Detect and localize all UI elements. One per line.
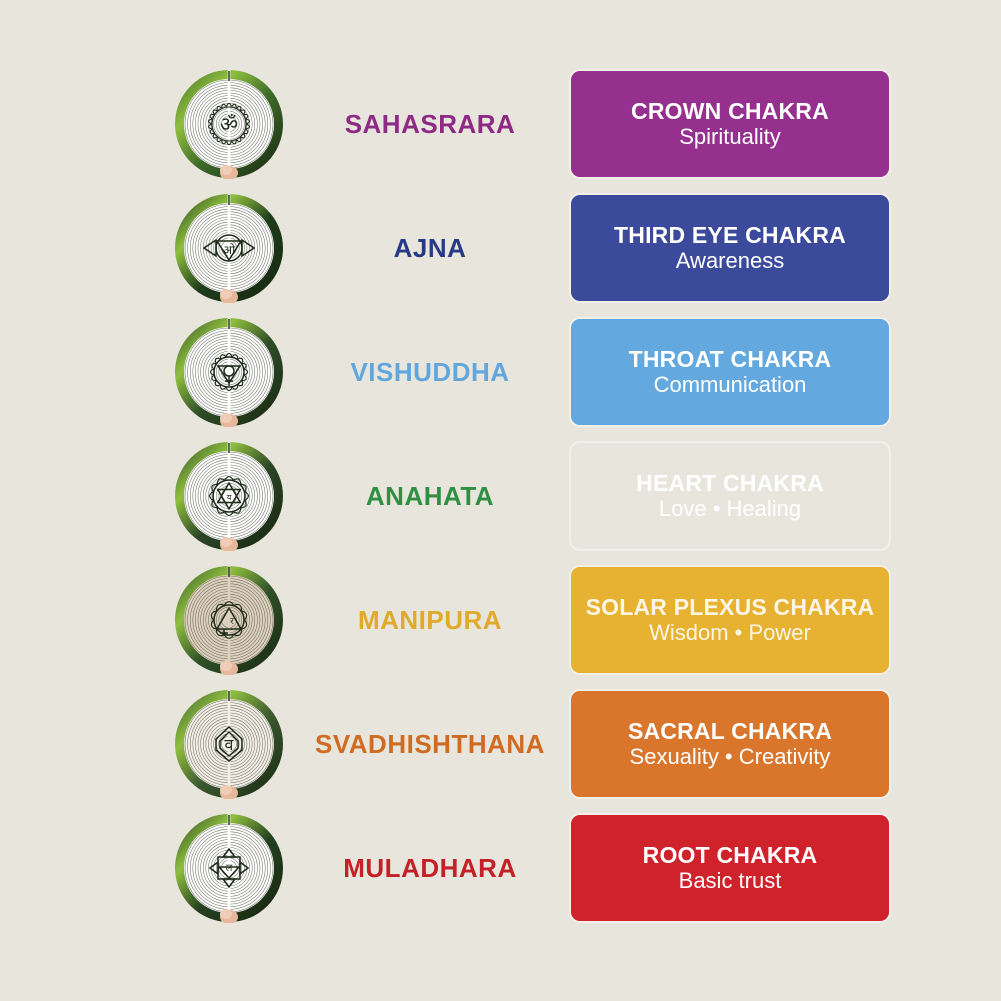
chakra-row: ल MULADHARA ROOT CHAKRA Basic trust	[0, 806, 1001, 930]
chakra-label-box[interactable]: SOLAR PLEXUS CHAKRA Wisdom • Power	[569, 565, 891, 675]
chakra-disc-hexagram-icon: य	[174, 441, 284, 551]
chakra-disc-triangle-up-icon: र	[174, 565, 284, 675]
chakra-qualities: Love • Healing	[659, 497, 801, 521]
chakra-qualities: Basic trust	[679, 869, 782, 893]
chakra-disc-om-icon: ॐ	[174, 69, 284, 179]
chakra-label-cell: SACRAL CHAKRA Sexuality • Creativity	[560, 682, 1001, 806]
chakra-qualities: Communication	[654, 373, 807, 397]
chakra-title: HEART CHAKRA	[636, 471, 824, 495]
chakra-label-cell: ROOT CHAKRA Basic trust	[560, 806, 1001, 930]
chakra-title: CROWN CHAKRA	[631, 99, 829, 123]
sanskrit-name: ANAHATA	[366, 483, 494, 509]
chakra-disc-cell: ओ	[0, 186, 300, 310]
chakra-disc-throat-icon	[174, 317, 284, 427]
chakra-title: SOLAR PLEXUS CHAKRA	[586, 595, 875, 619]
chakra-label-box[interactable]: ROOT CHAKRA Basic trust	[569, 813, 891, 923]
chakra-qualities: Awareness	[676, 249, 784, 273]
sanskrit-name-cell: AJNA	[300, 186, 560, 310]
chakra-row: य ANAHATA HEART CHAKRA Love • Healing	[0, 434, 1001, 558]
chakra-row: ओ AJNA THIRD EYE CHAKRA Awareness	[0, 186, 1001, 310]
sanskrit-name-cell: MULADHARA	[300, 806, 560, 930]
chakra-label-box[interactable]: HEART CHAKRA Love • Healing	[569, 441, 891, 551]
svg-text:ओ: ओ	[223, 243, 236, 257]
chakra-title: THIRD EYE CHAKRA	[614, 223, 846, 247]
chakra-disc-crescent-icon: व	[174, 689, 284, 799]
chakra-label-box[interactable]: THIRD EYE CHAKRA Awareness	[569, 193, 891, 303]
chakra-label-box[interactable]: CROWN CHAKRA Spirituality	[569, 69, 891, 179]
svg-text:र: र	[230, 617, 234, 627]
chakra-label-cell: CROWN CHAKRA Spirituality	[560, 62, 1001, 186]
chakra-label-cell: HEART CHAKRA Love • Healing	[560, 434, 1001, 558]
sanskrit-name: SAHASRARA	[345, 111, 516, 137]
chakra-title: THROAT CHAKRA	[629, 347, 832, 371]
chakra-disc-cell: व	[0, 682, 300, 806]
chakra-label-cell: SOLAR PLEXUS CHAKRA Wisdom • Power	[560, 558, 1001, 682]
chakra-label-box[interactable]: SACRAL CHAKRA Sexuality • Creativity	[569, 689, 891, 799]
chakra-disc-cell: ल	[0, 806, 300, 930]
chakra-title: SACRAL CHAKRA	[628, 719, 832, 743]
chakra-qualities: Wisdom • Power	[649, 621, 811, 645]
chakra-qualities: Spirituality	[679, 125, 780, 149]
sanskrit-name: MULADHARA	[343, 855, 516, 881]
chakra-disc-cell: ॐ	[0, 62, 300, 186]
chakra-label-box[interactable]: THROAT CHAKRA Communication	[569, 317, 891, 427]
sanskrit-name-cell: MANIPURA	[300, 558, 560, 682]
svg-text:व: व	[225, 735, 235, 754]
svg-text:ॐ: ॐ	[220, 112, 238, 136]
chakra-disc-cell: य	[0, 434, 300, 558]
chakra-disc-cell	[0, 310, 300, 434]
sanskrit-name-cell: VISHUDDHA	[300, 310, 560, 434]
chakra-row: र MANIPURA SOLAR PLEXUS CHAKRA Wisdom • …	[0, 558, 1001, 682]
sanskrit-name: VISHUDDHA	[350, 359, 509, 385]
sanskrit-name: AJNA	[394, 235, 467, 261]
sanskrit-name-cell: ANAHATA	[300, 434, 560, 558]
chakra-row: व SVADHISHTHANA SACRAL CHAKRA Sexuality …	[0, 682, 1001, 806]
chakra-qualities: Sexuality • Creativity	[630, 745, 831, 769]
chakra-label-cell: THIRD EYE CHAKRA Awareness	[560, 186, 1001, 310]
chakra-disc-cell: र	[0, 558, 300, 682]
chakra-title: ROOT CHAKRA	[643, 843, 818, 867]
chakra-row: ॐ SAHASRARA CROWN CHAKRA Spirituality	[0, 62, 1001, 186]
svg-text:ल: ल	[226, 863, 233, 874]
chakra-row: VISHUDDHA THROAT CHAKRA Communication	[0, 310, 1001, 434]
sanskrit-name: MANIPURA	[358, 607, 502, 633]
chakra-disc-root-icon: ल	[174, 813, 284, 923]
chakra-label-cell: THROAT CHAKRA Communication	[560, 310, 1001, 434]
chakra-chart: ॐ SAHASRARA CROWN CHAKRA Spirituality	[0, 0, 1001, 1001]
sanskrit-name-cell: SVADHISHTHANA	[300, 682, 560, 806]
svg-text:य: य	[227, 493, 232, 502]
sanskrit-name-cell: SAHASRARA	[300, 62, 560, 186]
chakra-disc-third-eye-icon: ओ	[174, 193, 284, 303]
sanskrit-name: SVADHISHTHANA	[315, 731, 545, 757]
